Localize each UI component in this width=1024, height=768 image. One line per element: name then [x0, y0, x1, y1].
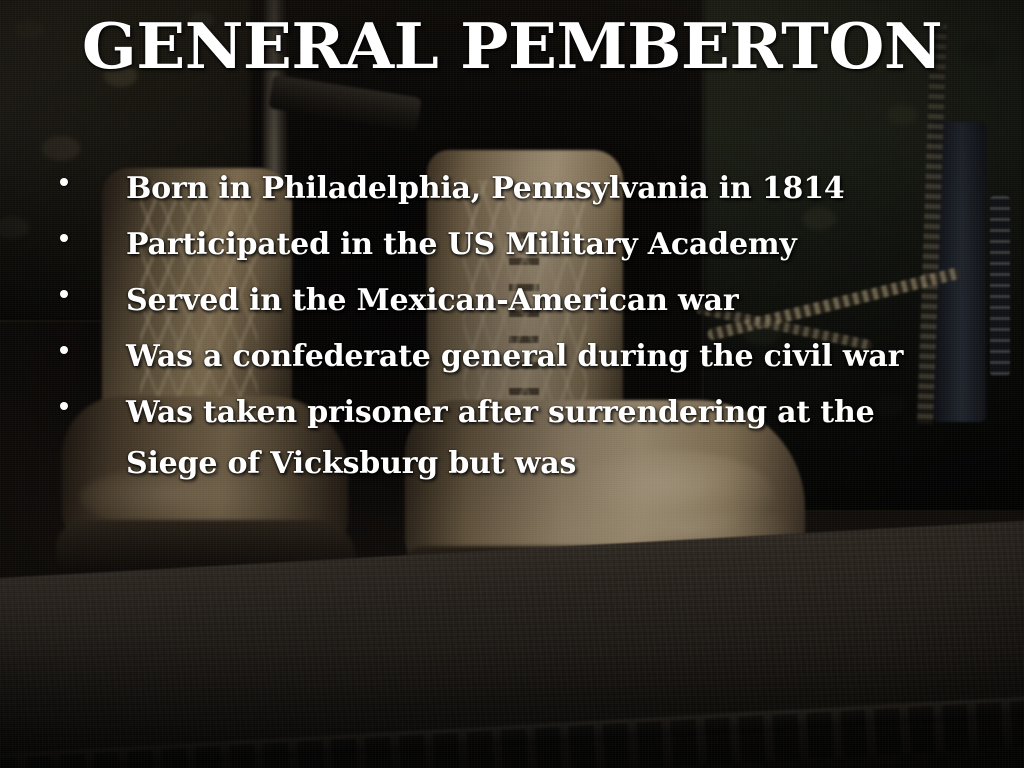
bullet-text: Was taken prisoner after surrendering at… — [126, 387, 952, 489]
bullet-dot-icon — [60, 234, 68, 242]
bullet-text: Served in the Mexican-American war — [126, 275, 738, 326]
slide-content: GENERAL PEMBERTON Born in Philadelphia, … — [0, 0, 1024, 768]
bullet-dot-icon — [60, 402, 68, 410]
list-item: Was a confederate general during the civ… — [52, 331, 952, 382]
bullet-text: Participated in the US Military Academy — [126, 219, 797, 270]
list-item: Served in the Mexican-American war — [52, 275, 952, 326]
list-item: Was taken prisoner after surrendering at… — [52, 387, 952, 489]
list-item: Born in Philadelphia, Pennsylvania in 18… — [52, 163, 952, 214]
list-item: Participated in the US Military Academy — [52, 219, 952, 270]
slide-title: GENERAL PEMBERTON — [0, 14, 1024, 78]
bullet-dot-icon — [60, 346, 68, 354]
bullet-list: Born in Philadelphia, Pennsylvania in 18… — [52, 163, 952, 494]
bullet-text: Born in Philadelphia, Pennsylvania in 18… — [126, 163, 845, 214]
bullet-dot-icon — [60, 178, 68, 186]
presentation-slide: GENERAL PEMBERTON Born in Philadelphia, … — [0, 0, 1024, 768]
bullet-dot-icon — [60, 290, 68, 298]
bullet-text: Was a confederate general during the civ… — [126, 331, 903, 382]
